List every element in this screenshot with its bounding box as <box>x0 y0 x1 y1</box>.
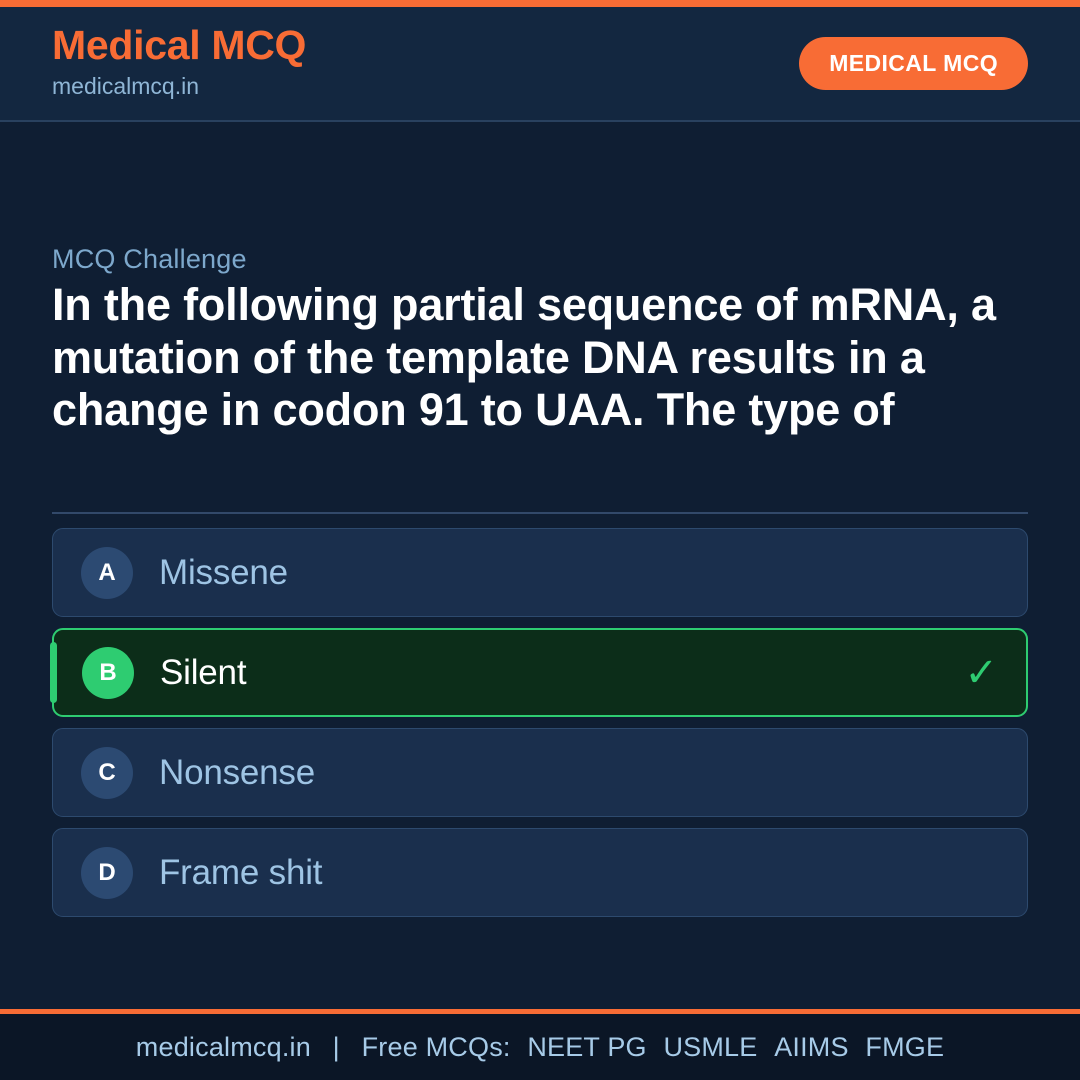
option-label-b: Silent <box>160 653 246 693</box>
question-divider <box>52 512 1028 514</box>
mcq-kicker-label: MCQ Challenge <box>52 244 247 275</box>
footer-site[interactable]: medicalmcq.in <box>136 1032 311 1062</box>
footer-tag-neetpg[interactable]: NEET PG <box>518 1032 646 1062</box>
brand-subtitle: medicalmcq.in <box>52 69 306 104</box>
option-row-c[interactable]: C Nonsense <box>52 728 1028 817</box>
footer-separator: | <box>319 1032 354 1062</box>
option-badge-a: A <box>81 547 133 599</box>
brand-title: Medical MCQ <box>52 24 306 67</box>
options-list: A Missene B Silent ✓ C Nonsense D Frame … <box>52 528 1028 917</box>
option-row-b[interactable]: B Silent ✓ <box>52 628 1028 717</box>
footer-prefix: Free MCQs: <box>362 1032 511 1062</box>
option-badge-b: B <box>82 647 134 699</box>
footer-tag-usmle[interactable]: USMLE <box>654 1032 757 1062</box>
brand-block: Medical MCQ medicalmcq.in <box>52 24 306 104</box>
option-badge-d: D <box>81 847 133 899</box>
footer-text: medicalmcq.in | Free MCQs: NEET PG USMLE… <box>136 1032 944 1063</box>
option-badge-c: C <box>81 747 133 799</box>
main-content: MCQ Challenge In the following partial s… <box>0 124 1080 1009</box>
option-label-d: Frame shit <box>159 853 322 893</box>
question-text: In the following partial sequence of mRN… <box>52 279 1028 437</box>
top-accent-bar <box>0 0 1080 7</box>
option-row-d[interactable]: D Frame shit <box>52 828 1028 917</box>
check-icon: ✓ <box>964 653 998 693</box>
page-header: Medical MCQ medicalmcq.in MEDICAL MCQ <box>0 7 1080 122</box>
page-footer: medicalmcq.in | Free MCQs: NEET PG USMLE… <box>0 1009 1080 1080</box>
correct-accent-bar <box>50 642 57 703</box>
header-badge[interactable]: MEDICAL MCQ <box>799 37 1028 90</box>
option-row-a[interactable]: A Missene <box>52 528 1028 617</box>
footer-tag-aiims[interactable]: AIIMS <box>765 1032 849 1062</box>
option-label-c: Nonsense <box>159 753 315 793</box>
footer-tag-fmge[interactable]: FMGE <box>856 1032 944 1062</box>
option-label-a: Missene <box>159 553 288 593</box>
